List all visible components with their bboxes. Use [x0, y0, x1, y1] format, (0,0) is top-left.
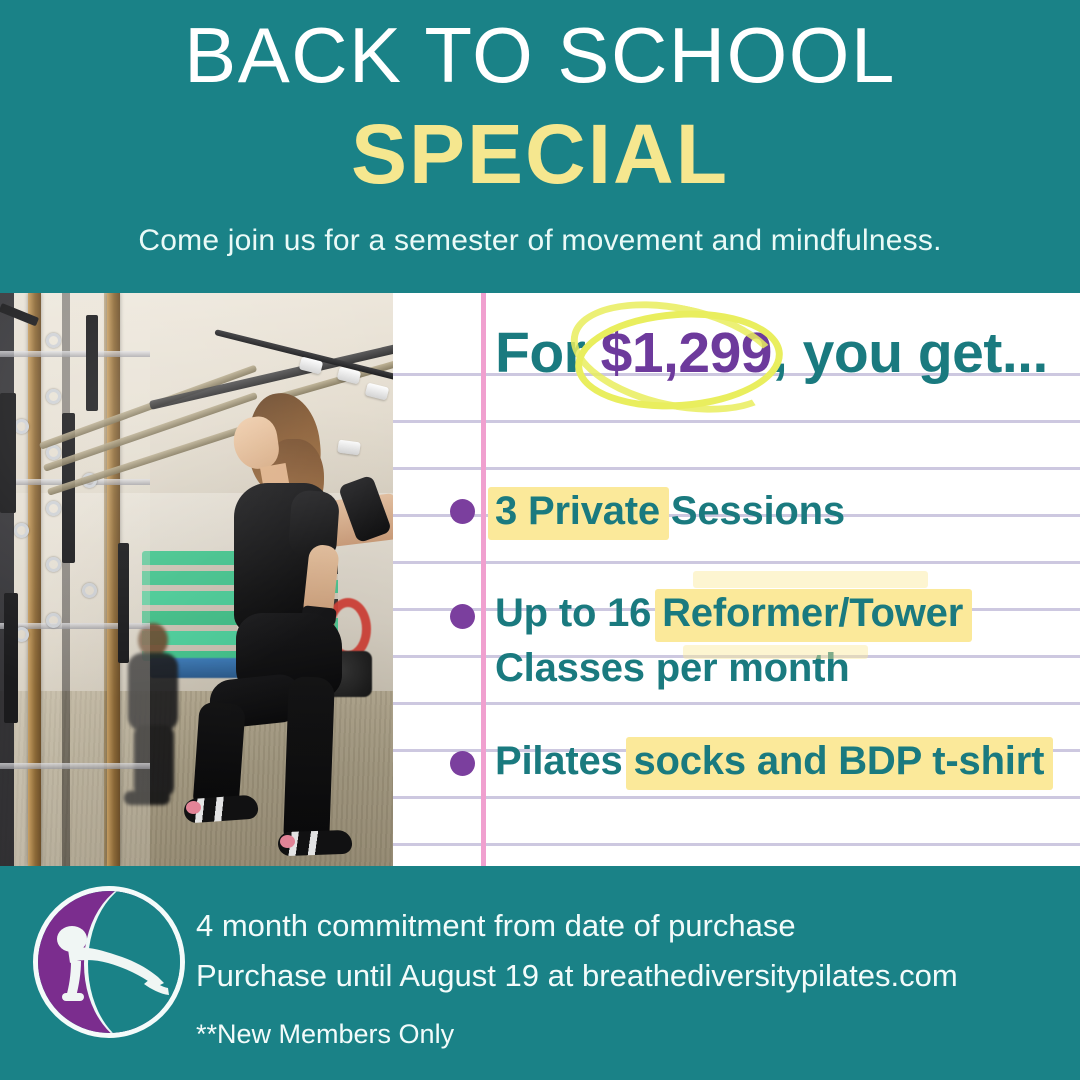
- offer-item-1-text: 3 Private Sessions: [495, 491, 845, 531]
- offer-item-3-prefix: Pilates: [495, 739, 633, 783]
- highlight-smudge-top: [693, 571, 928, 588]
- offer-item-3-text: Pilates socks and BDP t-shirt: [495, 741, 1044, 781]
- bullet-dot-1: [450, 499, 475, 524]
- studio-photo: [0, 293, 393, 866]
- offer-item-1-highlight: 3 Private: [495, 491, 660, 531]
- offer-item-2-highlight: Reformer/Tower: [662, 593, 963, 633]
- footer-band: 4 month commitment from date of purchase…: [0, 866, 1080, 1080]
- bullet-dot-3: [450, 751, 475, 776]
- footer-terms-line1: 4 month commitment from date of purchase: [196, 910, 796, 941]
- offer-item-3-highlight: socks and BDP t-shirt: [633, 741, 1044, 781]
- header-band: BACK TO SCHOOL SPECIAL Come join us for …: [0, 0, 1080, 293]
- price-circle-annotation-overstroke: [561, 293, 794, 430]
- promo-poster: BACK TO SCHOOL SPECIAL Come join us for …: [0, 0, 1080, 1080]
- offer-item-2-prefix: Up to 16: [495, 591, 662, 635]
- logo-plank-figure: [38, 891, 180, 1033]
- bullet-dot-2: [450, 604, 475, 629]
- footer-terms-line2: Purchase until August 19 at breathediver…: [196, 960, 958, 991]
- poster-title-line2: SPECIAL: [0, 112, 1080, 196]
- lined-paper-panel: For $1,299, you get... 3 Private Session…: [393, 293, 1080, 866]
- photo-subject: [190, 391, 365, 866]
- poster-tagline: Come join us for a semester of movement …: [0, 226, 1080, 256]
- brand-logo: [33, 886, 185, 1038]
- offer-item-2-text: Up to 16 Reformer/Tower: [495, 593, 963, 633]
- poster-title-line1: BACK TO SCHOOL: [0, 16, 1080, 94]
- footer-terms-line3: **New Members Only: [196, 1021, 454, 1048]
- offer-item-1-rest: Sessions: [660, 489, 845, 533]
- highlight-smudge-bottom: [683, 645, 868, 659]
- offer-headline-suffix: , you get...: [772, 321, 1048, 385]
- photo-tower-rig: [0, 293, 150, 866]
